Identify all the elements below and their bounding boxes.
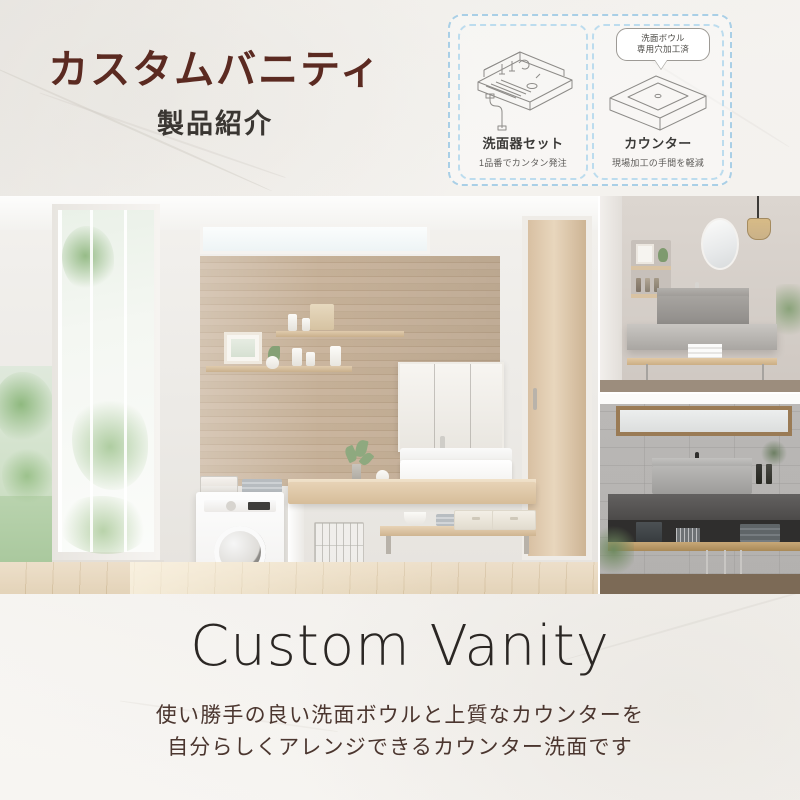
product-intro-page: カスタムバニティ 製品紹介 <box>0 0 800 800</box>
page-subtitle: 製品紹介 <box>0 102 430 141</box>
washbasin-set-icon <box>460 30 586 134</box>
footer: Custom Vanity 使い勝手の良い洗面ボウルと上質なカウンターを 自分ら… <box>0 594 800 800</box>
title-block: カスタムバニティ 製品紹介 <box>0 48 430 141</box>
brand-title: Custom Vanity <box>0 614 800 679</box>
bubble-line-1: 洗面ボウル <box>620 33 706 44</box>
header: カスタムバニティ 製品紹介 <box>0 0 800 196</box>
counter-callout-bubble: 洗面ボウル 専用穴加工済 <box>616 28 710 61</box>
page-title: カスタムバニティ <box>0 48 430 92</box>
photo-grey-basin-dark-counter <box>600 394 800 594</box>
tagline-line-1: 使い勝手の良い洗面ボウルと上質なカウンターを <box>0 700 800 732</box>
counter-label: カウンター <box>594 133 722 152</box>
washbasin-set-sublabel: 1品番でカンタン発注 <box>460 156 586 169</box>
photo-stone-basin-round-mirror <box>600 196 800 392</box>
washbasin-set-label: 洗面器セット <box>460 133 586 152</box>
photo-band <box>0 196 800 594</box>
diagram-panel-washbasin-set: 洗面器セット 1品番でカンタン発注 <box>458 24 588 180</box>
main-photo-laundry-room <box>0 196 598 594</box>
counter-slab-icon <box>594 70 722 134</box>
counter-sublabel: 現場加工の手間を軽減 <box>594 156 722 169</box>
diagram-panel-counter: 洗面ボウル 専用穴加工済 カウンター 現場加工の <box>592 24 724 180</box>
tagline: 使い勝手の良い洗面ボウルと上質なカウンターを 自分らしくアレンジできるカウンター… <box>0 700 800 764</box>
product-composition-diagram: 洗面器セット 1品番でカンタン発注 洗面ボウル 専用穴加工済 <box>448 14 732 186</box>
tagline-line-2: 自分らしくアレンジできるカウンター洗面です <box>0 732 800 764</box>
bubble-line-2: 専用穴加工済 <box>620 44 706 55</box>
